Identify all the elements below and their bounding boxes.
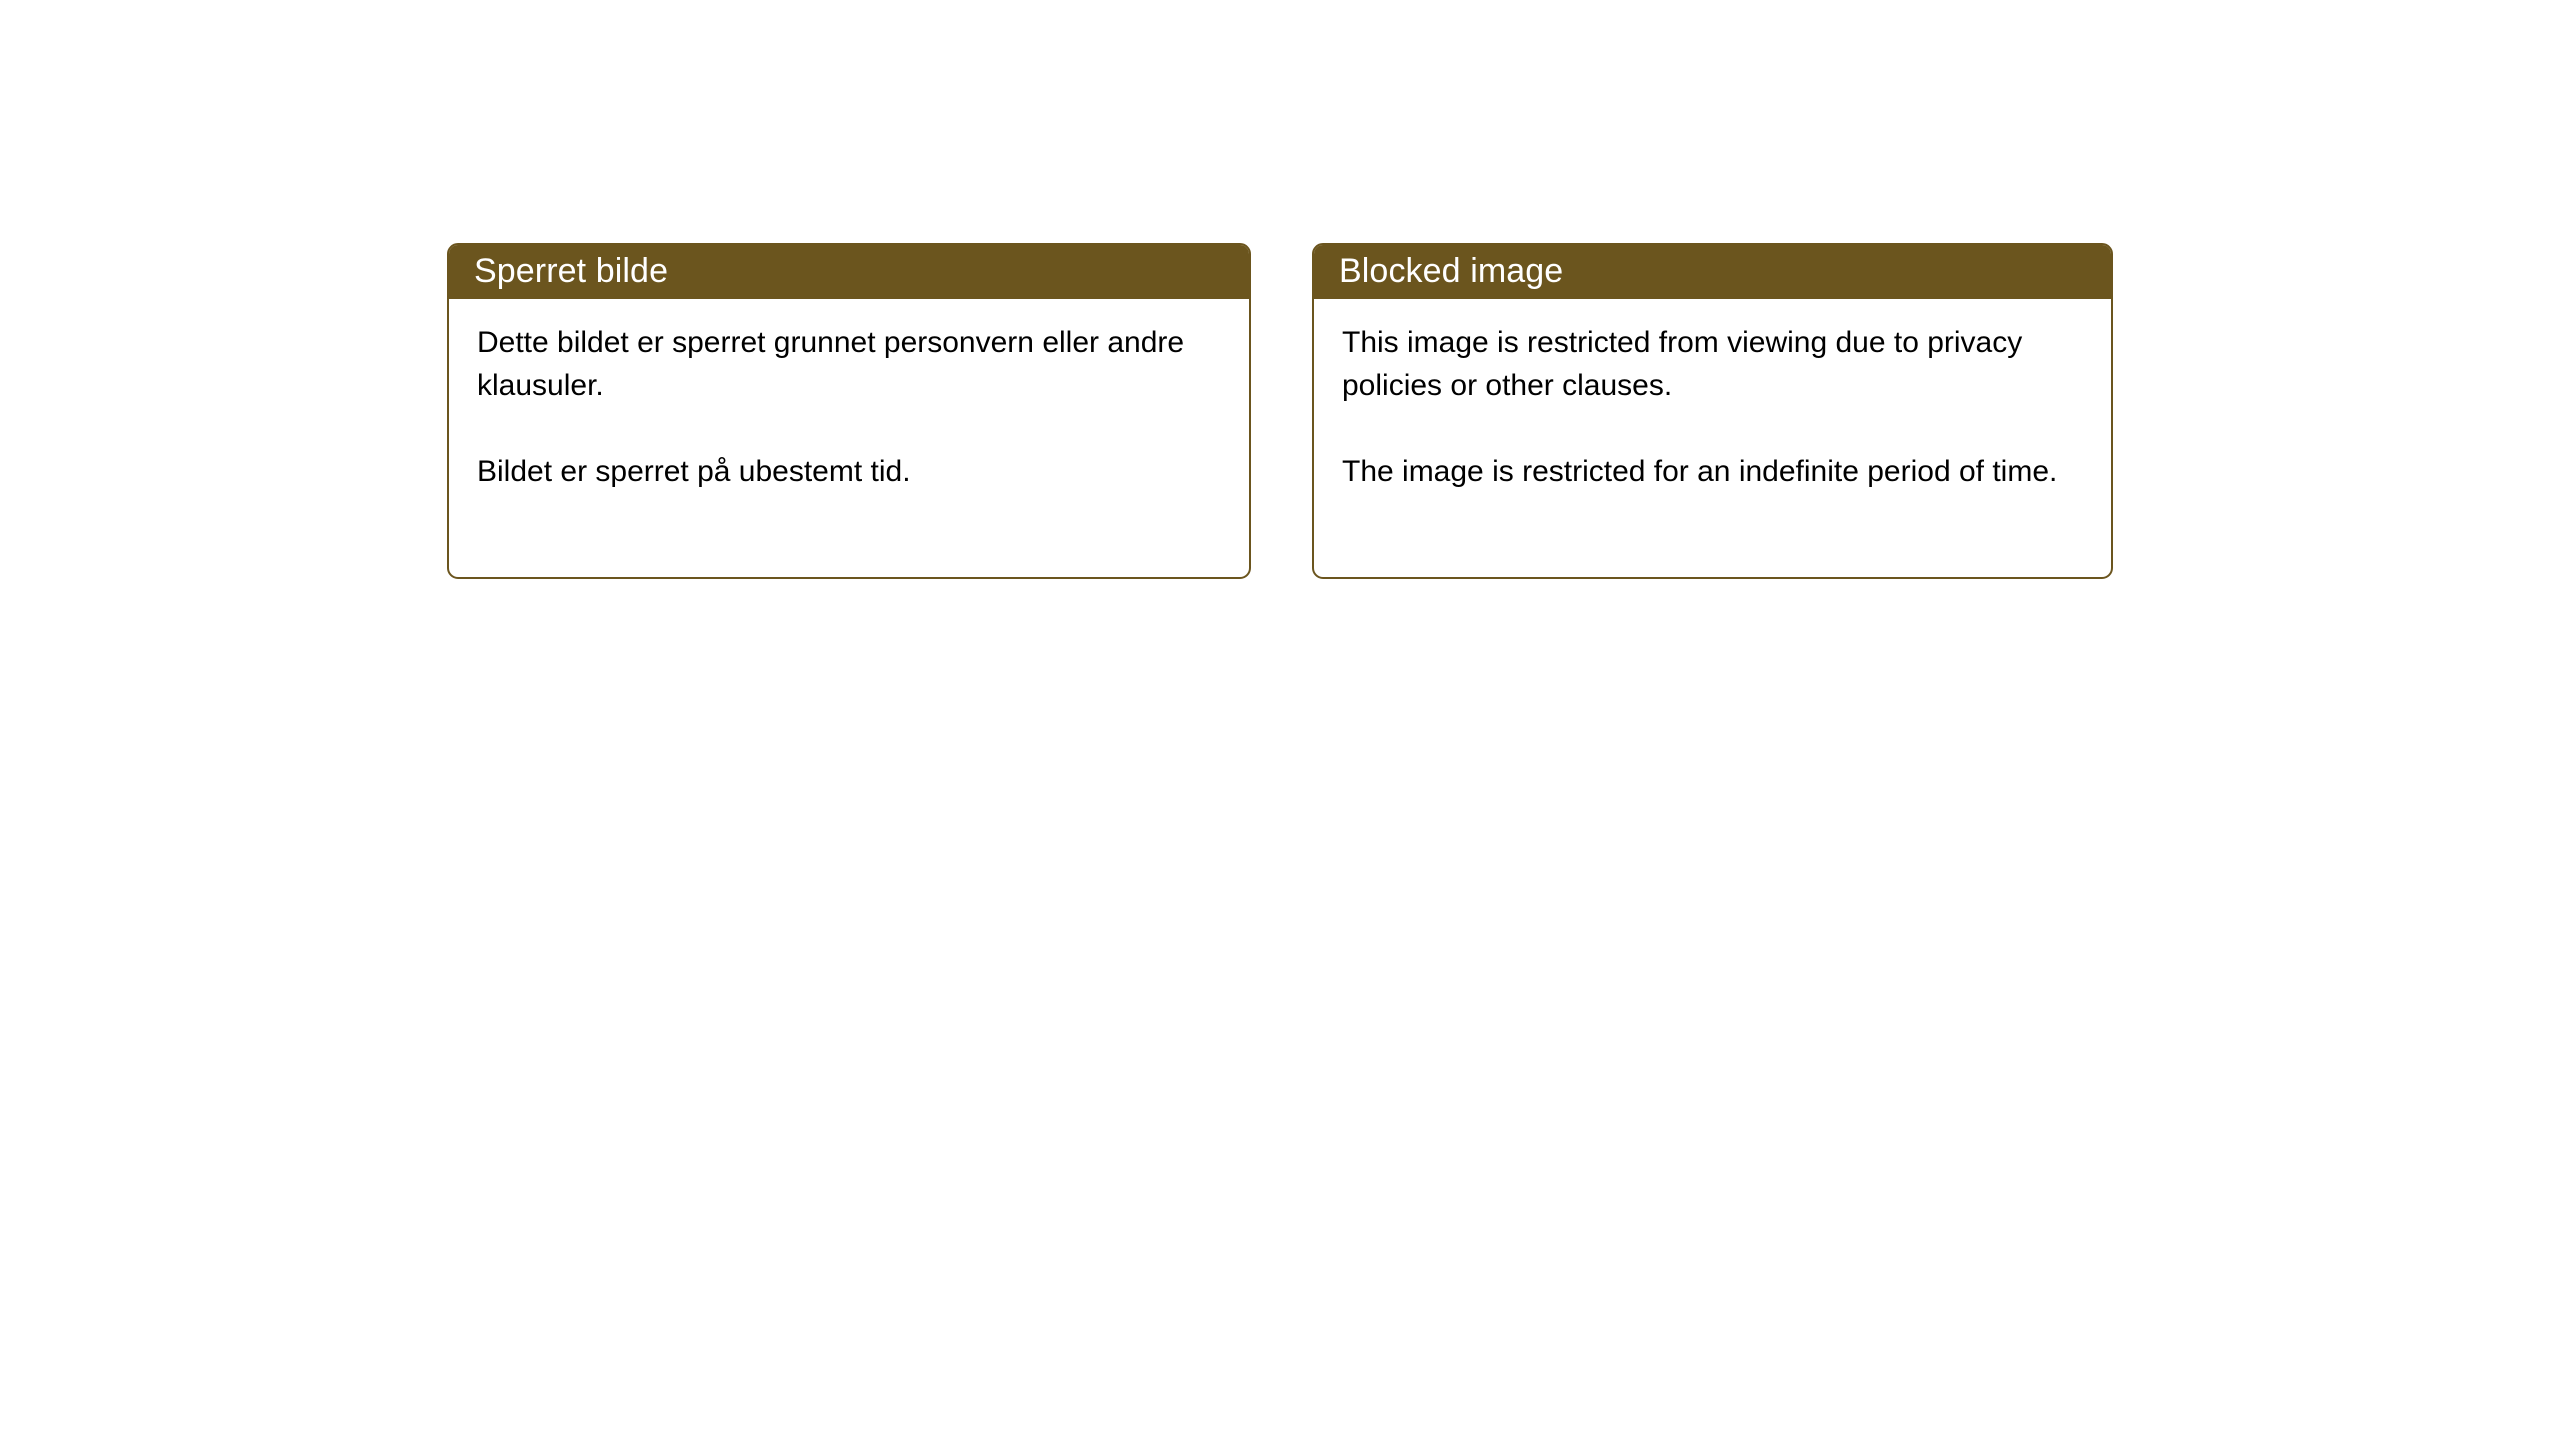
card-paragraph-duration-english: The image is restricted for an indefinit… <box>1342 450 2072 493</box>
card-paragraph-reason-english: This image is restricted from viewing du… <box>1342 321 2072 407</box>
card-header-english: Blocked image <box>1312 243 2113 299</box>
card-body-norwegian: Dette bildet er sperret grunnet personve… <box>449 299 1249 493</box>
card-title-english: Blocked image <box>1339 251 1563 291</box>
card-paragraph-duration-norwegian: Bildet er sperret på ubestemt tid. <box>477 450 1197 493</box>
card-header-norwegian: Sperret bilde <box>447 243 1251 299</box>
card-paragraph-reason-norwegian: Dette bildet er sperret grunnet personve… <box>477 321 1197 407</box>
card-body-english: This image is restricted from viewing du… <box>1314 299 2111 493</box>
blocked-image-notice-norwegian: Sperret bilde Dette bildet er sperret gr… <box>447 243 1251 579</box>
page-canvas: Sperret bilde Dette bildet er sperret gr… <box>0 0 2560 1440</box>
card-title-norwegian: Sperret bilde <box>474 251 668 291</box>
blocked-image-notice-english: Blocked image This image is restricted f… <box>1312 243 2113 579</box>
